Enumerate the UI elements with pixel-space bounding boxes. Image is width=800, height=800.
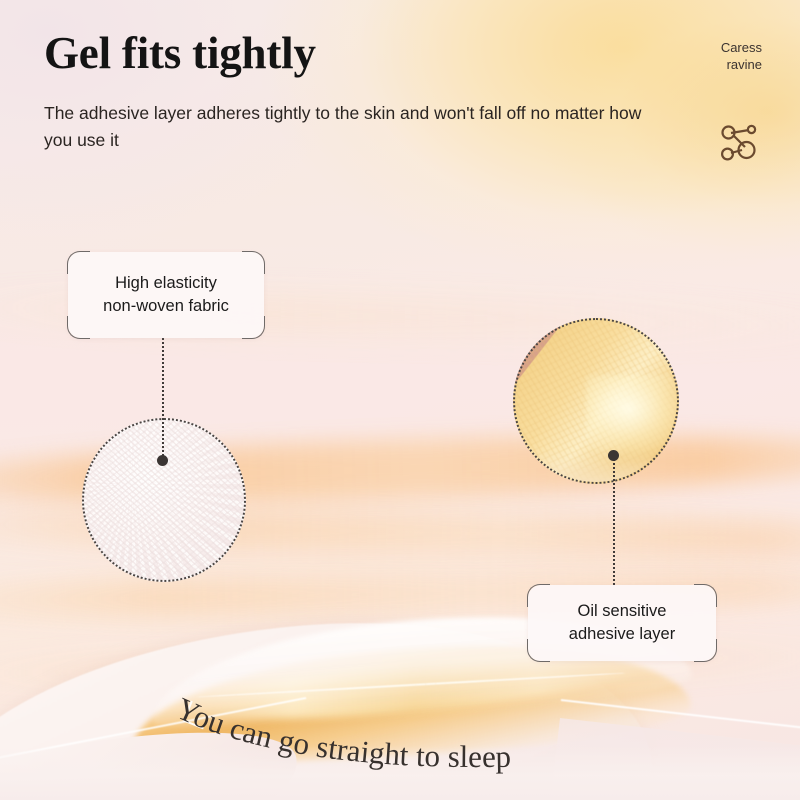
callout-text-fabric: High elasticity non-woven fabric	[68, 252, 264, 338]
anchor-dot-adhesive	[608, 450, 619, 461]
fabric-texture	[82, 418, 246, 582]
connector-line-fabric	[162, 338, 164, 460]
brand-name-line2: ravine	[721, 57, 762, 74]
callout-adhesive-line1: Oil sensitive	[578, 600, 667, 623]
brand-name-line1: Caress	[721, 40, 762, 57]
magnifier-circle-fabric	[82, 418, 246, 582]
brand-name: Caress ravine	[721, 40, 762, 73]
gel-bottom-edge	[513, 453, 679, 484]
callout-high-elasticity-non-woven-fabric[interactable]: High elasticity non-woven fabric	[68, 252, 264, 338]
callout-text-adhesive: Oil sensitive adhesive layer	[528, 585, 716, 661]
curved-tagline-text: You can go straight to sleep	[171, 690, 511, 774]
page-subtitle: The adhesive layer adheres tightly to th…	[44, 100, 644, 154]
connector-line-adhesive	[613, 455, 615, 585]
curved-tagline: You can go straight to sleep	[170, 690, 640, 800]
gel-sheen	[586, 375, 679, 459]
page-title: Gel fits tightly	[44, 30, 316, 77]
callout-oil-sensitive-adhesive-layer[interactable]: Oil sensitive adhesive layer	[528, 585, 716, 661]
callout-adhesive-line2: adhesive layer	[569, 623, 675, 646]
product-feature-image: Gel fits tightly The adhesive layer adhe…	[0, 0, 800, 800]
callout-fabric-line1: High elasticity	[115, 272, 217, 295]
molecule-icon	[718, 122, 762, 166]
callout-fabric-line2: non-woven fabric	[103, 295, 229, 318]
anchor-dot-fabric	[157, 455, 168, 466]
magnifier-circle-gel	[513, 318, 679, 484]
